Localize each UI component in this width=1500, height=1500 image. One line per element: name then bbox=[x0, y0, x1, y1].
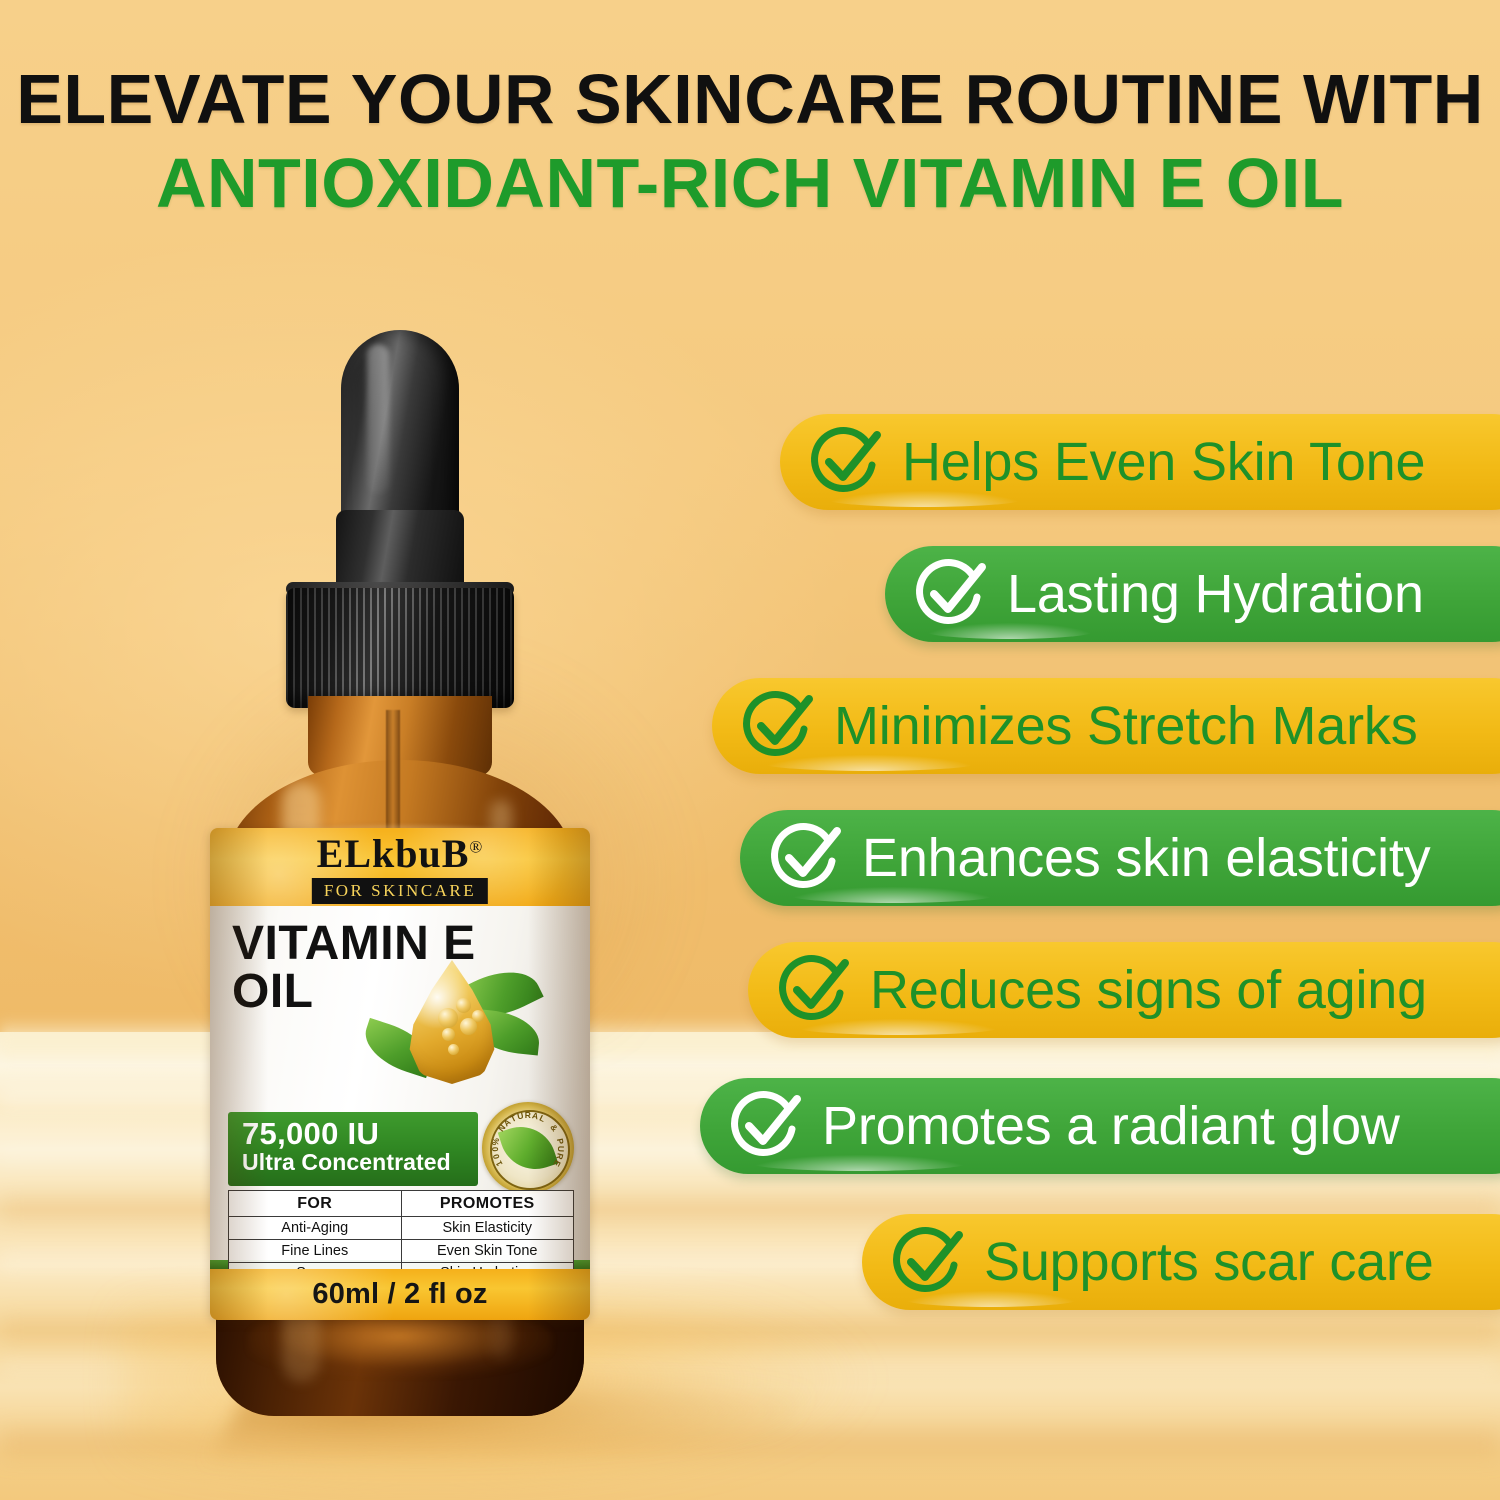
benefit-pill-4[interactable]: Enhances skin elasticity bbox=[740, 810, 1500, 906]
potency-value: 75,000 IU bbox=[242, 1118, 478, 1149]
table-row: Fine Lines Even Skin Tone bbox=[229, 1240, 574, 1263]
molecule-icon bbox=[472, 1010, 484, 1022]
benefit-label: Lasting Hydration bbox=[1007, 567, 1424, 621]
benefit-label: Supports scar care bbox=[984, 1235, 1434, 1289]
check-circle-icon bbox=[892, 1225, 966, 1299]
headline-block: ELEVATE YOUR SKINCARE ROUTINE WITH ANTIO… bbox=[0, 62, 1500, 222]
label-brand-band: ELkbuB® FOR SKINCARE bbox=[210, 828, 590, 906]
brand-text: ELkbuB bbox=[317, 831, 470, 876]
table-row: Anti-Aging Skin Elasticity bbox=[229, 1217, 574, 1240]
molecule-icon bbox=[448, 1044, 459, 1055]
product-bottle: ELkbuB® FOR SKINCARE VITAMIN E OIL bbox=[190, 330, 610, 1410]
registered-trademark-icon: ® bbox=[469, 838, 483, 857]
seal-label: 100% NATURAL & PURE bbox=[482, 1102, 574, 1194]
molecule-icon bbox=[456, 998, 471, 1013]
benefit-pill-3[interactable]: Minimizes Stretch Marks bbox=[712, 678, 1500, 774]
benefit-label: Helps Even Skin Tone bbox=[902, 435, 1425, 489]
table-header-cell: PROMOTES bbox=[401, 1191, 574, 1217]
check-circle-icon bbox=[742, 689, 816, 763]
benefit-pill-6[interactable]: Promotes a radiant glow bbox=[700, 1078, 1500, 1174]
molecule-icon bbox=[442, 1028, 455, 1041]
table-cell: Even Skin Tone bbox=[401, 1240, 574, 1263]
table-cell: Fine Lines bbox=[229, 1240, 402, 1263]
benefit-pill-5[interactable]: Reduces signs of aging bbox=[748, 942, 1500, 1038]
check-circle-icon bbox=[730, 1089, 804, 1163]
natural-pure-seal: 100% NATURAL & PURE bbox=[482, 1102, 574, 1194]
table-cell: Anti-Aging bbox=[229, 1217, 402, 1240]
product-marketing-image: ELEVATE YOUR SKINCARE ROUTINE WITH ANTIO… bbox=[0, 0, 1500, 1500]
product-label: ELkbuB® FOR SKINCARE VITAMIN E OIL bbox=[210, 828, 590, 1320]
table-header-row: FOR PROMOTES bbox=[229, 1191, 574, 1217]
potency-descriptor: Ultra Concentrated bbox=[242, 1149, 478, 1175]
table-header-cell: FOR bbox=[229, 1191, 402, 1217]
table-cell: Skin Elasticity bbox=[401, 1217, 574, 1240]
label-main-panel: VITAMIN E OIL 75,000 IU bbox=[210, 906, 590, 1260]
benefit-label: Enhances skin elasticity bbox=[862, 831, 1430, 885]
dropper-collar bbox=[286, 588, 514, 708]
check-circle-icon bbox=[770, 821, 844, 895]
headline-primary: ELEVATE YOUR SKINCARE ROUTINE WITH bbox=[0, 62, 1500, 138]
check-circle-icon bbox=[810, 425, 884, 499]
benefit-label: Minimizes Stretch Marks bbox=[834, 699, 1418, 753]
benefit-pill-1[interactable]: Helps Even Skin Tone bbox=[780, 414, 1500, 510]
oil-drop-graphic bbox=[360, 954, 535, 1104]
benefit-pill-2[interactable]: Lasting Hydration bbox=[885, 546, 1500, 642]
brand-name: ELkbuB® bbox=[210, 834, 590, 874]
molecule-icon bbox=[438, 1008, 458, 1028]
potency-badge: 75,000 IU Ultra Concentrated bbox=[228, 1112, 478, 1186]
product-volume: 60ml / 2 fl oz bbox=[210, 1278, 590, 1311]
headline-secondary: ANTIOXIDANT-RICH VITAMIN E OIL bbox=[0, 144, 1500, 222]
benefit-label: Promotes a radiant glow bbox=[822, 1099, 1400, 1153]
label-volume-band: 60ml / 2 fl oz bbox=[210, 1269, 590, 1320]
brand-tagline: FOR SKINCARE bbox=[312, 878, 488, 904]
benefit-label: Reduces signs of aging bbox=[870, 963, 1427, 1017]
benefit-pill-7[interactable]: Supports scar care bbox=[862, 1214, 1500, 1310]
check-circle-icon bbox=[915, 557, 989, 631]
check-circle-icon bbox=[778, 953, 852, 1027]
